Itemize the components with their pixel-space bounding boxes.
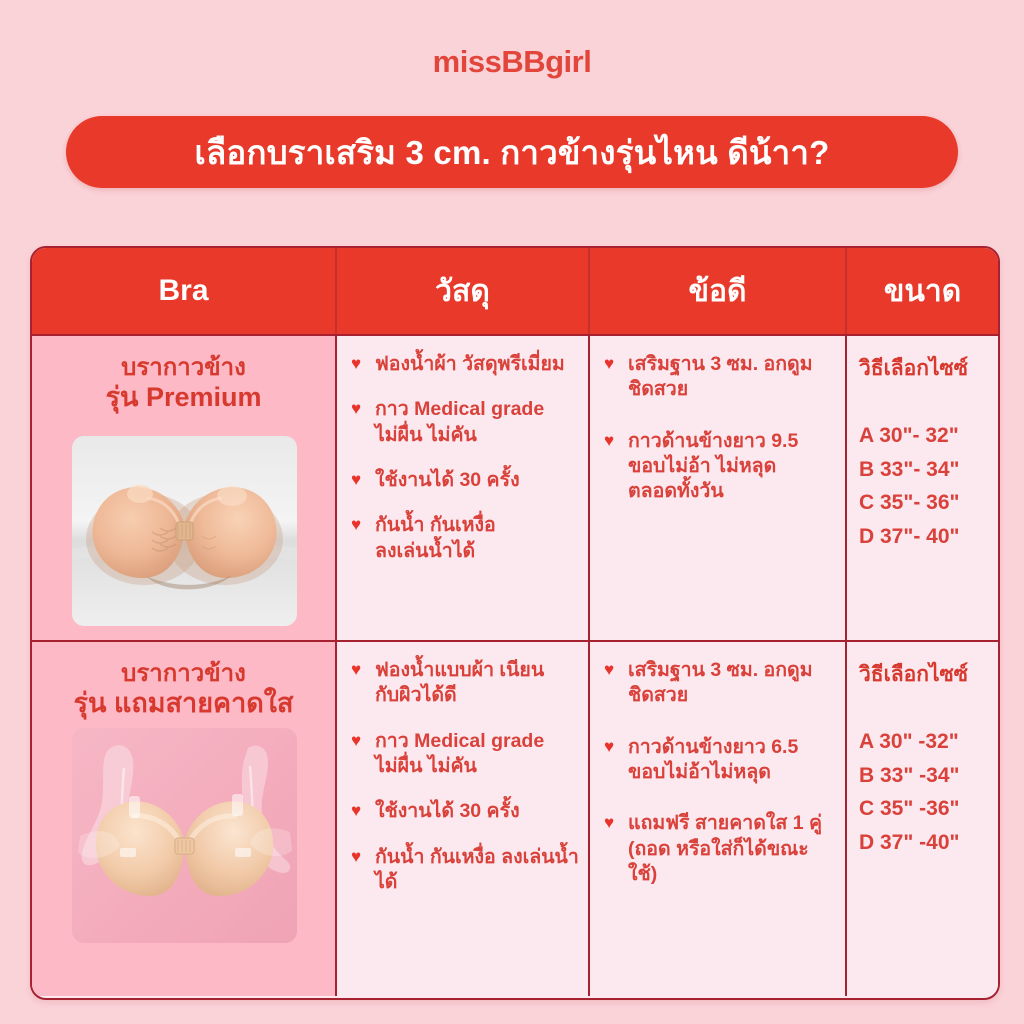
list-item: ♥กันน้ำ กันเหงื่อ ลงเล่นน้ำได้: [351, 845, 580, 896]
heart-icon: ♥: [604, 353, 614, 376]
column-header-size: ขนาด: [847, 248, 998, 334]
product-photo-clearstrap: [72, 728, 297, 943]
list-item-text: กาวด้านข้างยาว 9.5ขอบไม่อ้า ไม่หลุดตลอดท…: [628, 430, 798, 503]
product-title-line1: บรากาวข้าง: [44, 354, 323, 382]
size-item: A 30" -32": [859, 725, 992, 759]
list-item: ♥กาว Medical gradeไม่ผื่น ไม่คัน: [351, 729, 580, 780]
product-title-clearstrap: บรากาวข้าง รุ่น แถมสายคาดใส: [44, 660, 323, 720]
benefits-list-clearstrap: ♥เสริมฐาน 3 ซม. อกดูมชิดสวย ♥กาวด้านข้าง…: [604, 658, 837, 887]
material-list-premium: ♥ฟองน้ำผ้า วัสดุพรีเมี่ยม ♥กาว Medical g…: [351, 352, 580, 564]
heart-icon: ♥: [604, 659, 614, 682]
product-title-line1: บรากาวข้าง: [44, 660, 323, 688]
benefits-cell-clearstrap: ♥เสริมฐาน 3 ซม. อกดูมชิดสวย ♥กาวด้านข้าง…: [590, 642, 847, 996]
list-item: ♥แถมฟรี สายคาดใส 1 คู่(ถอด หรือใส่ก็ได้ข…: [604, 811, 837, 887]
material-cell-premium: ♥ฟองน้ำผ้า วัสดุพรีเมี่ยม ♥กาว Medical g…: [337, 336, 590, 640]
heart-icon: ♥: [351, 800, 361, 823]
table-row: บรากาวข้าง รุ่น แถมสายคาดใส: [32, 642, 998, 996]
heart-icon: ♥: [351, 730, 361, 753]
heart-icon: ♥: [351, 846, 361, 869]
list-item-text: ฟองน้ำผ้า วัสดุพรีเมี่ยม: [375, 353, 565, 375]
material-list-clearstrap: ♥ฟองน้ำแบบผ้า เนียนกับผิวได้ดี ♥กาว Medi…: [351, 658, 580, 895]
list-item: ♥ฟองน้ำแบบผ้า เนียนกับผิวได้ดี: [351, 658, 580, 709]
heart-icon: ♥: [351, 398, 361, 421]
size-item: D 37" -40": [859, 826, 992, 860]
table-header-row: Bra วัสดุ ข้อดี ขนาด: [32, 248, 998, 336]
column-header-material: วัสดุ: [337, 248, 590, 334]
benefits-list-premium: ♥เสริมฐาน 3 ซม. อกดูมชิดสวย ♥กาวด้านข้าง…: [604, 352, 837, 505]
size-item: D 37"- 40": [859, 520, 992, 554]
heart-icon: ♥: [351, 469, 361, 492]
headline-text: เลือกบราเสริม 3 cm. กาวข้างรุ่นไหน ดีน้า…: [195, 136, 830, 169]
product-photo-premium: [72, 436, 297, 626]
list-item-text: ใช้งานได้ 30 ครั้ง: [375, 800, 520, 822]
list-item: ♥กันน้ำ กันเหงื่อลงเล่นน้ำได้: [351, 513, 580, 564]
size-cell-premium: วิธีเลือกไซซ์ A 30"- 32" B 33"- 34" C 35…: [847, 336, 998, 640]
material-cell-clearstrap: ♥ฟองน้ำแบบผ้า เนียนกับผิวได้ดี ♥กาว Medi…: [337, 642, 590, 996]
list-item-text: แถมฟรี สายคาดใส 1 คู่(ถอด หรือใส่ก็ได้ขณ…: [628, 812, 822, 885]
size-item: A 30"- 32": [859, 419, 992, 453]
list-item: ♥ใช้งานได้ 30 ครั้ง: [351, 799, 580, 824]
size-list-clearstrap: A 30" -32" B 33" -34" C 35" -36" D 37" -…: [857, 725, 992, 859]
product-cell-clearstrap: บรากาวข้าง รุ่น แถมสายคาดใส: [32, 642, 337, 996]
heart-icon: ♥: [351, 659, 361, 682]
list-item-text: กาว Medical gradeไม่ผื่น ไม่คัน: [375, 398, 544, 445]
list-item: ♥กาวด้านข้างยาว 6.5ขอบไม่อ้าไม่หลุด: [604, 735, 837, 786]
size-list-premium: A 30"- 32" B 33"- 34" C 35"- 36" D 37"- …: [857, 419, 992, 553]
size-cell-clearstrap: วิธีเลือกไซซ์ A 30" -32" B 33" -34" C 35…: [847, 642, 998, 996]
list-item: ♥กาว Medical gradeไม่ผื่น ไม่คัน: [351, 397, 580, 448]
size-guide-title: วิธีเลือกไซซ์: [859, 658, 992, 691]
heart-icon: ♥: [604, 812, 614, 835]
heart-icon: ♥: [604, 430, 614, 453]
list-item: ♥เสริมฐาน 3 ซม. อกดูมชิดสวย: [604, 352, 837, 403]
list-item: ♥กาวด้านข้างยาว 9.5ขอบไม่อ้า ไม่หลุดตลอด…: [604, 429, 837, 505]
heart-icon: ♥: [351, 353, 361, 376]
product-title-premium: บรากาวข้าง รุ่น Premium: [44, 354, 323, 414]
list-item-text: เสริมฐาน 3 ซม. อกดูมชิดสวย: [628, 353, 813, 400]
list-item: ♥เสริมฐาน 3 ซม. อกดูมชิดสวย: [604, 658, 837, 709]
infographic-page: missBBgirl เลือกบราเสริม 3 cm. กาวข้างรุ…: [0, 0, 1024, 1024]
list-item-text: ใช้งานได้ 30 ครั้ง: [375, 469, 520, 491]
table-row: บรากาวข้าง รุ่น Premium: [32, 336, 998, 642]
list-item-text: กันน้ำ กันเหงื่อ ลงเล่นน้ำได้: [375, 846, 579, 893]
headline-banner: เลือกบราเสริม 3 cm. กาวข้างรุ่นไหน ดีน้า…: [66, 116, 958, 188]
brand-logo: missBBgirl: [0, 44, 1024, 80]
list-item-text: เสริมฐาน 3 ซม. อกดูมชิดสวย: [628, 659, 813, 706]
list-item-text: กาวด้านข้างยาว 6.5ขอบไม่อ้าไม่หลุด: [628, 736, 798, 783]
product-title-line2: รุ่น Premium: [44, 382, 323, 414]
benefits-cell-premium: ♥เสริมฐาน 3 ซม. อกดูมชิดสวย ♥กาวด้านข้าง…: [590, 336, 847, 640]
comparison-table: Bra วัสดุ ข้อดี ขนาด บรากาวข้าง รุ่น Pre…: [30, 246, 1000, 1000]
product-cell-premium: บรากาวข้าง รุ่น Premium: [32, 336, 337, 640]
list-item-text: กันน้ำ กันเหงื่อลงเล่นน้ำได้: [375, 514, 496, 561]
list-item-text: กาว Medical gradeไม่ผื่น ไม่คัน: [375, 730, 544, 777]
column-header-benefits: ข้อดี: [590, 248, 847, 334]
product-title-line2: รุ่น แถมสายคาดใส: [44, 688, 323, 720]
size-item: B 33"- 34": [859, 453, 992, 487]
size-guide-title: วิธีเลือกไซซ์: [859, 352, 992, 385]
list-item: ♥ฟองน้ำผ้า วัสดุพรีเมี่ยม: [351, 352, 580, 377]
list-item: ♥ใช้งานได้ 30 ครั้ง: [351, 468, 580, 493]
list-item-text: ฟองน้ำแบบผ้า เนียนกับผิวได้ดี: [375, 659, 544, 706]
size-item: C 35" -36": [859, 792, 992, 826]
column-header-bra: Bra: [32, 248, 337, 334]
heart-icon: ♥: [351, 514, 361, 537]
size-item: B 33" -34": [859, 759, 992, 793]
size-item: C 35"- 36": [859, 486, 992, 520]
heart-icon: ♥: [604, 736, 614, 759]
